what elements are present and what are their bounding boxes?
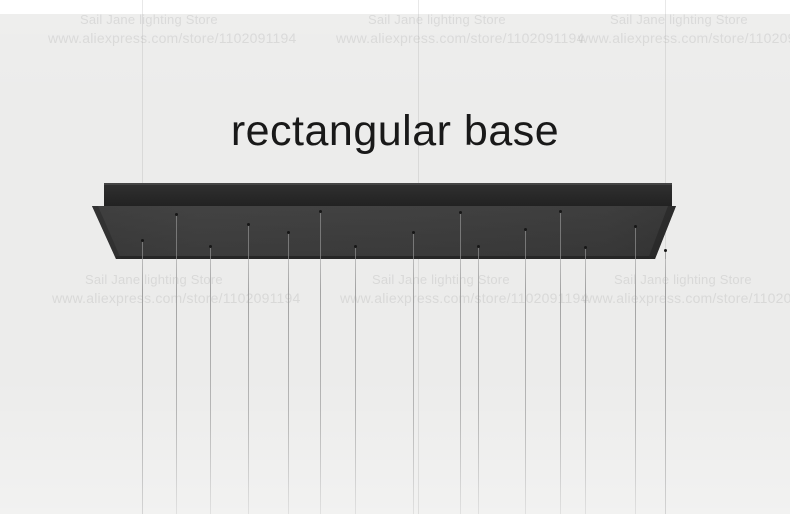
wire-on-plate bbox=[355, 247, 356, 259]
wire-on-plate bbox=[288, 233, 289, 259]
wire-attachment-nub bbox=[175, 213, 178, 216]
wire-on-plate bbox=[585, 248, 586, 259]
wire-attachment-nub bbox=[354, 245, 357, 248]
wire-on-plate bbox=[635, 227, 636, 259]
wire-on-plate bbox=[665, 251, 666, 259]
wire-on-plate bbox=[413, 233, 414, 259]
wire-attachment-nub bbox=[634, 225, 637, 228]
wire-on-plate bbox=[176, 215, 177, 259]
wire-attachment-nub bbox=[141, 239, 144, 242]
light-fixture bbox=[0, 0, 790, 529]
wire-on-plate bbox=[248, 225, 249, 259]
canopy-rim-highlight bbox=[104, 183, 672, 185]
product-photo: Sail Jane lighting Store www.aliexpress.… bbox=[0, 0, 790, 529]
photo-bottom-margin bbox=[0, 514, 790, 529]
wire-on-plate bbox=[525, 230, 526, 259]
wire-attachment-nub bbox=[412, 231, 415, 234]
wire-attachment-nub bbox=[459, 211, 462, 214]
wire-attachment-nub bbox=[584, 246, 587, 249]
canopy-plate-shading bbox=[92, 206, 676, 259]
wire-attachment-nub bbox=[477, 245, 480, 248]
wire-on-plate bbox=[478, 247, 479, 259]
canopy-top-rim bbox=[104, 183, 672, 206]
canopy-plate-lip bbox=[116, 256, 655, 259]
wire-attachment-nub bbox=[287, 231, 290, 234]
wire-attachment-nub bbox=[664, 249, 667, 252]
wire-on-plate bbox=[560, 212, 561, 259]
wire-on-plate bbox=[210, 247, 211, 259]
wire-on-plate bbox=[320, 212, 321, 259]
wire-attachment-nub bbox=[524, 228, 527, 231]
wire-attachment-nub bbox=[559, 210, 562, 213]
canopy-plate-body bbox=[0, 0, 790, 529]
wire-attachment-nub bbox=[247, 223, 250, 226]
wire-attachment-nub bbox=[209, 245, 212, 248]
wire-on-plate bbox=[460, 213, 461, 259]
wire-attachment-nub bbox=[319, 210, 322, 213]
wire-on-plate bbox=[142, 241, 143, 259]
